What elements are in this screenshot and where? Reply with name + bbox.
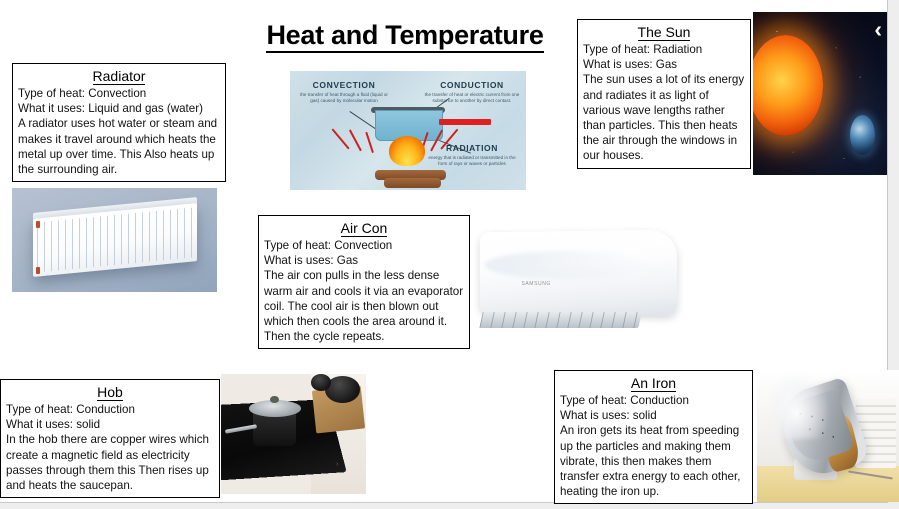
card-the-sun-line-1: Type of heat: Radiation	[583, 42, 745, 57]
ac-brand-label: SAMSUNG	[521, 281, 550, 287]
ac-vent-louvres	[479, 312, 642, 328]
card-hob-line-1: Type of heat: Conduction	[6, 402, 214, 417]
diagram-log	[384, 178, 441, 188]
heat-transfer-diagram: CONVECTION the transfer of heat through …	[290, 71, 526, 190]
card-the-sun-line-3: The sun uses a lot of its energy and rad…	[583, 72, 745, 163]
card-radiator-line-1: Type of heat: Convection	[18, 86, 220, 101]
card-the-sun-title: The Sun	[583, 23, 745, 41]
card-air-con: Air Con Type of heat: Convection What is…	[258, 215, 470, 349]
diagram-convection-heading: CONVECTION	[296, 80, 392, 90]
ac-vent	[479, 312, 642, 328]
card-radiator-line-2: What it uses: Liquid and gas (water)	[18, 101, 220, 116]
card-the-sun: The Sun Type of heat: Radiation What is …	[577, 19, 751, 169]
diagram-ray	[331, 129, 349, 150]
card-an-iron-title: An Iron	[560, 374, 747, 392]
steam-plume	[771, 373, 828, 439]
radiator-photo	[12, 188, 217, 292]
card-air-con-line-1: Type of heat: Convection	[264, 238, 464, 253]
card-radiator-line-3: A radiator uses hot water or steam and m…	[18, 116, 220, 177]
document-canvas: Heat and Temperature Radiator Type of he…	[0, 0, 899, 509]
card-hob: Hob Type of heat: Conduction What it use…	[0, 379, 220, 498]
page-title-text: Heat and Temperature	[266, 20, 543, 53]
card-air-con-title: Air Con	[264, 219, 464, 237]
diagram-conduction-caption: the transfer of heat or electric current…	[422, 92, 522, 103]
card-hob-line-3: In the hob there are copper wires which …	[6, 432, 214, 493]
sun-and-earth-photo: ‹	[753, 12, 887, 175]
radiator-valve-top	[36, 221, 40, 228]
earth-disc	[850, 115, 875, 156]
card-hob-title: Hob	[6, 383, 214, 401]
card-radiator: Radiator Type of heat: Convection What i…	[12, 63, 226, 182]
diagram-ray	[365, 132, 373, 153]
induction-hob-photo: ›	[221, 374, 366, 494]
diagram-ray	[349, 129, 362, 151]
hob-pan-lid	[249, 400, 301, 417]
radiator-valve-bottom	[36, 267, 40, 274]
card-radiator-title: Radiator	[18, 67, 220, 85]
diagram-radiation-caption: energy that is radiated or transmitted i…	[426, 155, 518, 166]
card-the-sun-line-2: What is uses: Gas	[583, 57, 745, 72]
diagram-flame	[389, 136, 424, 166]
hob-bowl	[311, 374, 331, 391]
page-title: Heat and Temperature	[240, 20, 570, 51]
air-conditioner-photo: SAMSUNG	[472, 216, 687, 341]
hob-indicator-mark: ›	[336, 461, 338, 468]
hob-lid-knob	[270, 396, 279, 403]
card-an-iron-line-2: What is uses: solid	[560, 408, 747, 423]
card-an-iron-line-1: Type of heat: Conduction	[560, 393, 747, 408]
card-an-iron-line-3: An iron gets its heat from speeding up t…	[560, 423, 747, 499]
card-an-iron: An Iron Type of heat: Conduction What is…	[554, 370, 753, 504]
ac-unit-sheen	[485, 251, 648, 279]
diagram-conduction-rod	[439, 119, 491, 125]
diagram-conduction-heading: CONDUCTION	[422, 80, 522, 90]
page-edge-bottom	[0, 503, 888, 509]
card-hob-line-2: What it uses: solid	[6, 417, 214, 432]
card-air-con-line-2: What is uses: Gas	[264, 253, 464, 268]
steam-iron-photo	[757, 370, 899, 502]
chevron-left-icon[interactable]: ‹	[874, 18, 882, 41]
sun-disc	[753, 35, 823, 136]
diagram-leader-convection	[349, 111, 378, 131]
card-air-con-line-3: The air con pulls in the less dense warm…	[264, 268, 464, 344]
diagram-convection-caption: the transfer of heat through a fluid (li…	[296, 92, 392, 103]
